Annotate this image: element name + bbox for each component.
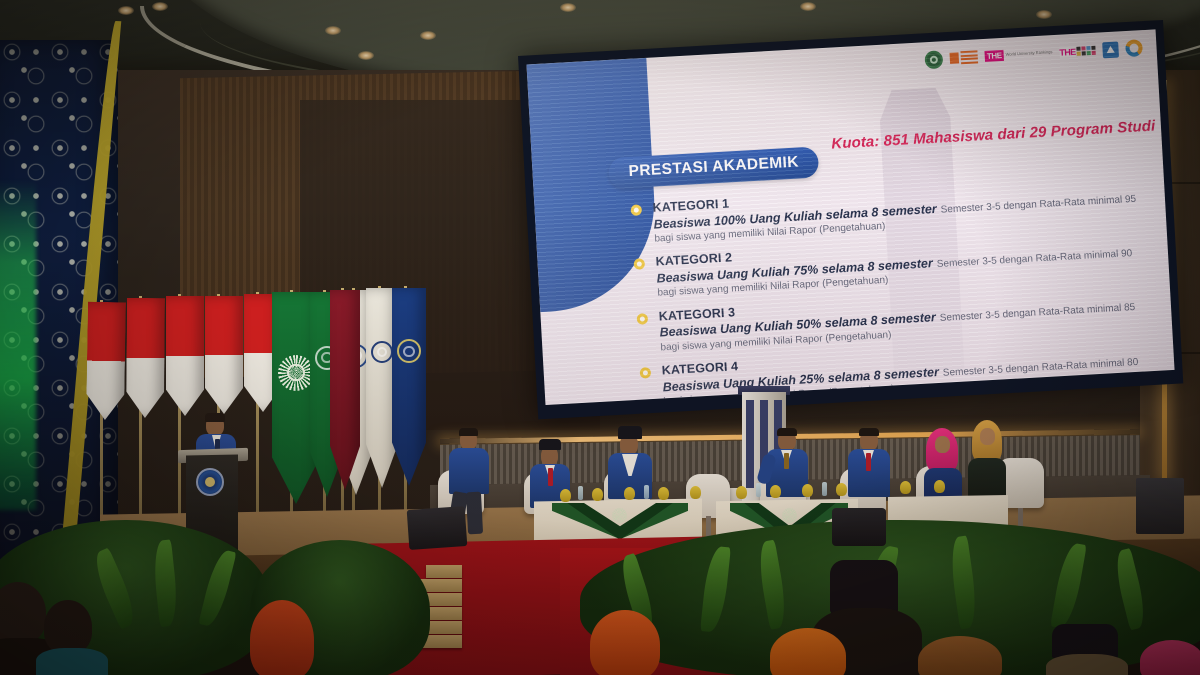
panelist-tie bbox=[548, 468, 553, 486]
panelist-hair bbox=[777, 428, 797, 436]
orange-hijab bbox=[770, 628, 846, 675]
flower-icon bbox=[658, 487, 669, 500]
flower-icon bbox=[770, 485, 781, 498]
audience-head bbox=[44, 600, 92, 654]
orange-blue-circle-logo bbox=[1125, 39, 1143, 57]
bullet-ring-icon bbox=[637, 313, 649, 325]
flower-icon bbox=[836, 483, 847, 496]
green-circle-accreditation-logo bbox=[925, 50, 944, 68]
flag-institution-maroon bbox=[330, 290, 360, 490]
bullet-ring-icon bbox=[630, 204, 642, 216]
red-hijab bbox=[250, 600, 314, 675]
the-impact-rankings-logo: THE bbox=[1059, 42, 1096, 61]
water-bottle bbox=[756, 483, 761, 497]
flower-icon bbox=[900, 481, 911, 494]
downlight-icon bbox=[560, 3, 576, 12]
orange-ranking-logo bbox=[949, 48, 978, 67]
audience-body bbox=[1046, 654, 1128, 675]
panelist-leg bbox=[466, 492, 483, 535]
peci-cap-icon bbox=[618, 426, 642, 439]
flag-indonesia-3 bbox=[166, 296, 204, 416]
slide-logo-row: THE World University Rankings THE bbox=[925, 39, 1143, 68]
flower-icon bbox=[736, 486, 747, 499]
slide-surface: THE World University Rankings THE PRESTA… bbox=[526, 29, 1174, 405]
institution-seal-icon bbox=[371, 341, 393, 363]
flower-icon bbox=[690, 486, 701, 499]
panelist-tie bbox=[866, 453, 871, 471]
blue-square-logo bbox=[1102, 40, 1119, 58]
panelist-face bbox=[980, 428, 995, 445]
podium-emblem-icon bbox=[196, 468, 224, 496]
water-bottle bbox=[578, 486, 583, 500]
downlight-icon bbox=[800, 2, 816, 11]
bullet-ring-icon bbox=[640, 367, 652, 379]
orange-hijab bbox=[590, 610, 660, 675]
stage-case bbox=[1136, 478, 1184, 534]
led-presentation-screen: THE World University Rankings THE PRESTA… bbox=[518, 20, 1183, 419]
downlight-icon bbox=[118, 6, 134, 15]
peci-cap-icon bbox=[539, 439, 561, 450]
flag-indonesia-2 bbox=[126, 298, 165, 418]
institution-seal-icon bbox=[397, 339, 421, 363]
slide-quota-text: Kuota: 851 Mahasiswa dari 29 Program Stu… bbox=[831, 118, 1156, 153]
flag-indonesia-1 bbox=[86, 302, 126, 421]
slide-category-list: KATEGORI 1 Beasiswa 100% Uang Kuliah sel… bbox=[630, 173, 1159, 405]
the-world-university-rankings-logo: THE World University Rankings bbox=[984, 44, 1052, 65]
flag-institution-blue bbox=[392, 288, 426, 486]
audience-body bbox=[36, 648, 108, 675]
downlight-icon bbox=[152, 2, 168, 11]
panelist-face bbox=[935, 436, 950, 453]
panelist-tie bbox=[784, 453, 789, 469]
step bbox=[426, 565, 462, 578]
water-bottle bbox=[644, 485, 649, 499]
muhammadiyah-sun-emblem bbox=[612, 508, 627, 523]
panelist-torso bbox=[449, 448, 489, 494]
flower-icon bbox=[934, 480, 945, 493]
flag-indonesia-4 bbox=[205, 296, 243, 414]
the-impact-mark: THE bbox=[1059, 46, 1076, 57]
stage-monitor-speaker bbox=[407, 506, 468, 550]
flower-icon bbox=[592, 488, 603, 501]
downlight-icon bbox=[420, 31, 436, 40]
muhammadiyah-sun-emblem bbox=[782, 508, 797, 523]
the-mark: THE bbox=[985, 50, 1004, 62]
speaker-hair bbox=[205, 413, 225, 422]
flower-icon bbox=[802, 484, 813, 497]
water-bottle bbox=[822, 482, 827, 496]
black-peci bbox=[830, 560, 898, 614]
conference-photo-scene: THE World University Rankings THE PRESTA… bbox=[0, 0, 1200, 675]
pink-hijab bbox=[1140, 640, 1200, 675]
panelist-hair bbox=[459, 428, 478, 436]
downlight-icon bbox=[1036, 10, 1052, 19]
model-window bbox=[746, 400, 754, 488]
green-stage-light bbox=[0, 180, 36, 510]
bullet-ring-icon bbox=[634, 259, 646, 271]
panelist-hair bbox=[859, 428, 879, 436]
flower-icon bbox=[560, 489, 571, 502]
muhammadiyah-sun-emblem bbox=[278, 355, 314, 391]
stage-light-fixture bbox=[832, 508, 886, 546]
the-wur-label: World University Rankings bbox=[1006, 50, 1053, 57]
downlight-icon bbox=[325, 26, 341, 35]
flower-icon bbox=[624, 487, 635, 500]
downlight-icon bbox=[358, 51, 374, 60]
black-peci bbox=[1052, 624, 1118, 658]
